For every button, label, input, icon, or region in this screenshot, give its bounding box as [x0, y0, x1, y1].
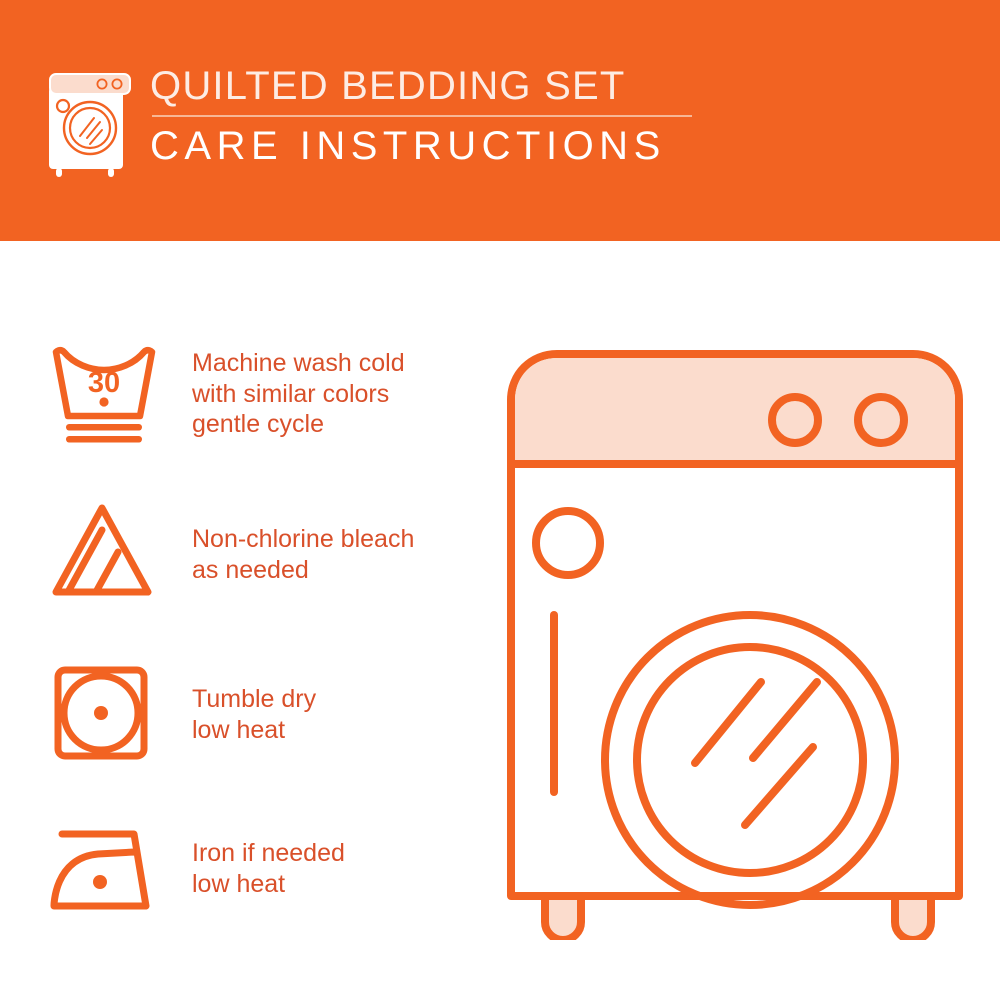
washing-machine-icon	[42, 68, 138, 180]
header-title-block: QUILTED BEDDING SET CARE INSTRUCTIONS	[150, 62, 692, 169]
foot-right	[895, 896, 931, 940]
control-panel	[515, 358, 955, 464]
header-banner: QUILTED BEDDING SET CARE INSTRUCTIONS	[0, 0, 1000, 241]
care-text-bleach: Non-chlorine bleach as needed	[192, 496, 414, 585]
header-content: QUILTED BEDDING SET CARE INSTRUCTIONS	[42, 62, 692, 180]
care-row-iron: Iron if needed low heat	[48, 816, 478, 976]
page-title: QUILTED BEDDING SET	[150, 64, 692, 108]
care-text-tumble-dry: Tumble dry low heat	[192, 656, 316, 745]
iron-low-heat-icon	[48, 816, 166, 928]
care-row-machine-wash: 30 Machine wash cold with similar colors…	[48, 336, 478, 496]
wash-temperature-label: 30	[88, 367, 120, 399]
foot-left	[545, 896, 581, 940]
wash-tub-30-gentle-icon: 30	[48, 336, 166, 448]
tumble-dry-low-heat-icon	[48, 656, 166, 768]
care-row-bleach: Non-chlorine bleach as needed	[48, 496, 478, 656]
care-text-iron: Iron if needed low heat	[192, 816, 345, 899]
care-text-machine-wash: Machine wash cold with similar colors ge…	[192, 336, 405, 440]
page-subtitle: CARE INSTRUCTIONS	[150, 123, 692, 169]
title-divider	[152, 115, 692, 117]
non-chlorine-bleach-triangle-icon	[48, 496, 166, 608]
care-instructions-list: 30 Machine wash cold with similar colors…	[48, 336, 478, 976]
front-load-washing-machine-illustration	[495, 330, 975, 940]
care-row-tumble-dry: Tumble dry low heat	[48, 656, 478, 816]
